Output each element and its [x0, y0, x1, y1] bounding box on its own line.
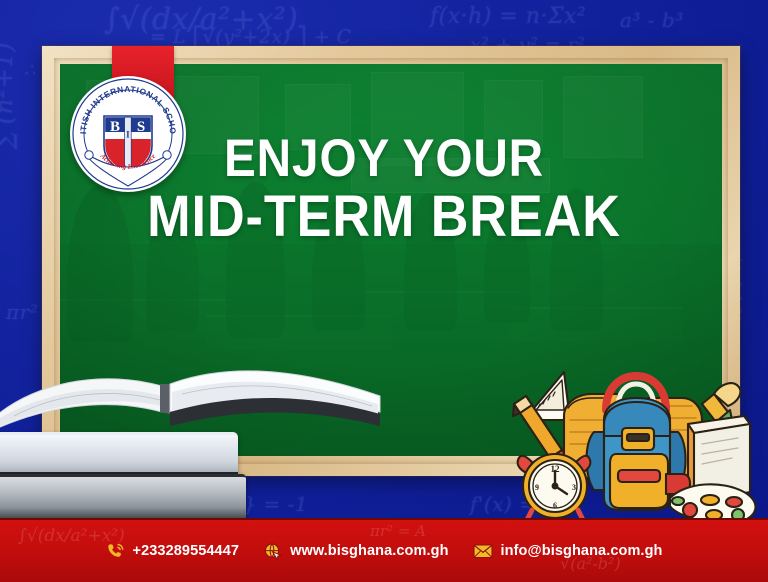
contact-email[interactable]: info@bisghana.com.gh: [473, 543, 663, 559]
school-logo: BRITISH INTERNATIONAL SCHOOL B S I Achie…: [70, 76, 186, 192]
phone-icon: [106, 542, 125, 561]
logo-letter-i: I: [126, 130, 130, 140]
envelope-icon: [473, 543, 493, 559]
open-book-stack-illustration: [0, 360, 384, 520]
headline-line-2: MID-TERM BREAK: [38, 189, 729, 245]
contact-bar: ∫√(dx/a²+x²) πr² = A √(a²-b²) +233289554…: [0, 518, 768, 582]
contact-phone-text: +233289554447: [133, 543, 240, 559]
contact-email-text: info@bisghana.com.gh: [501, 543, 663, 559]
open-book: [0, 356, 384, 440]
contact-phone[interactable]: +233289554447: [106, 542, 240, 561]
closed-book-upper: [0, 432, 238, 476]
poster-canvas: ∫√(dx/a²+x²) = L ⎡√(y²+2x) ⎤ + C f(x·h) …: [0, 0, 768, 582]
school-supplies-illustration: 12 3 6 9: [506, 358, 762, 524]
svg-text:6: 6: [553, 501, 557, 510]
globe-icon: [263, 542, 282, 561]
contact-website[interactable]: www.bisghana.com.gh: [263, 542, 448, 561]
logo-letter-b: B: [110, 119, 120, 135]
closed-book-lower: [0, 474, 246, 520]
alarm-clock-icon: 12 3 6 9: [518, 454, 591, 522]
contact-website-text: www.bisghana.com.gh: [290, 543, 448, 559]
svg-text:9: 9: [535, 483, 539, 492]
svg-text:3: 3: [572, 483, 576, 492]
logo-letter-s: S: [137, 119, 145, 135]
math-formula: πr² = A: [370, 522, 426, 540]
